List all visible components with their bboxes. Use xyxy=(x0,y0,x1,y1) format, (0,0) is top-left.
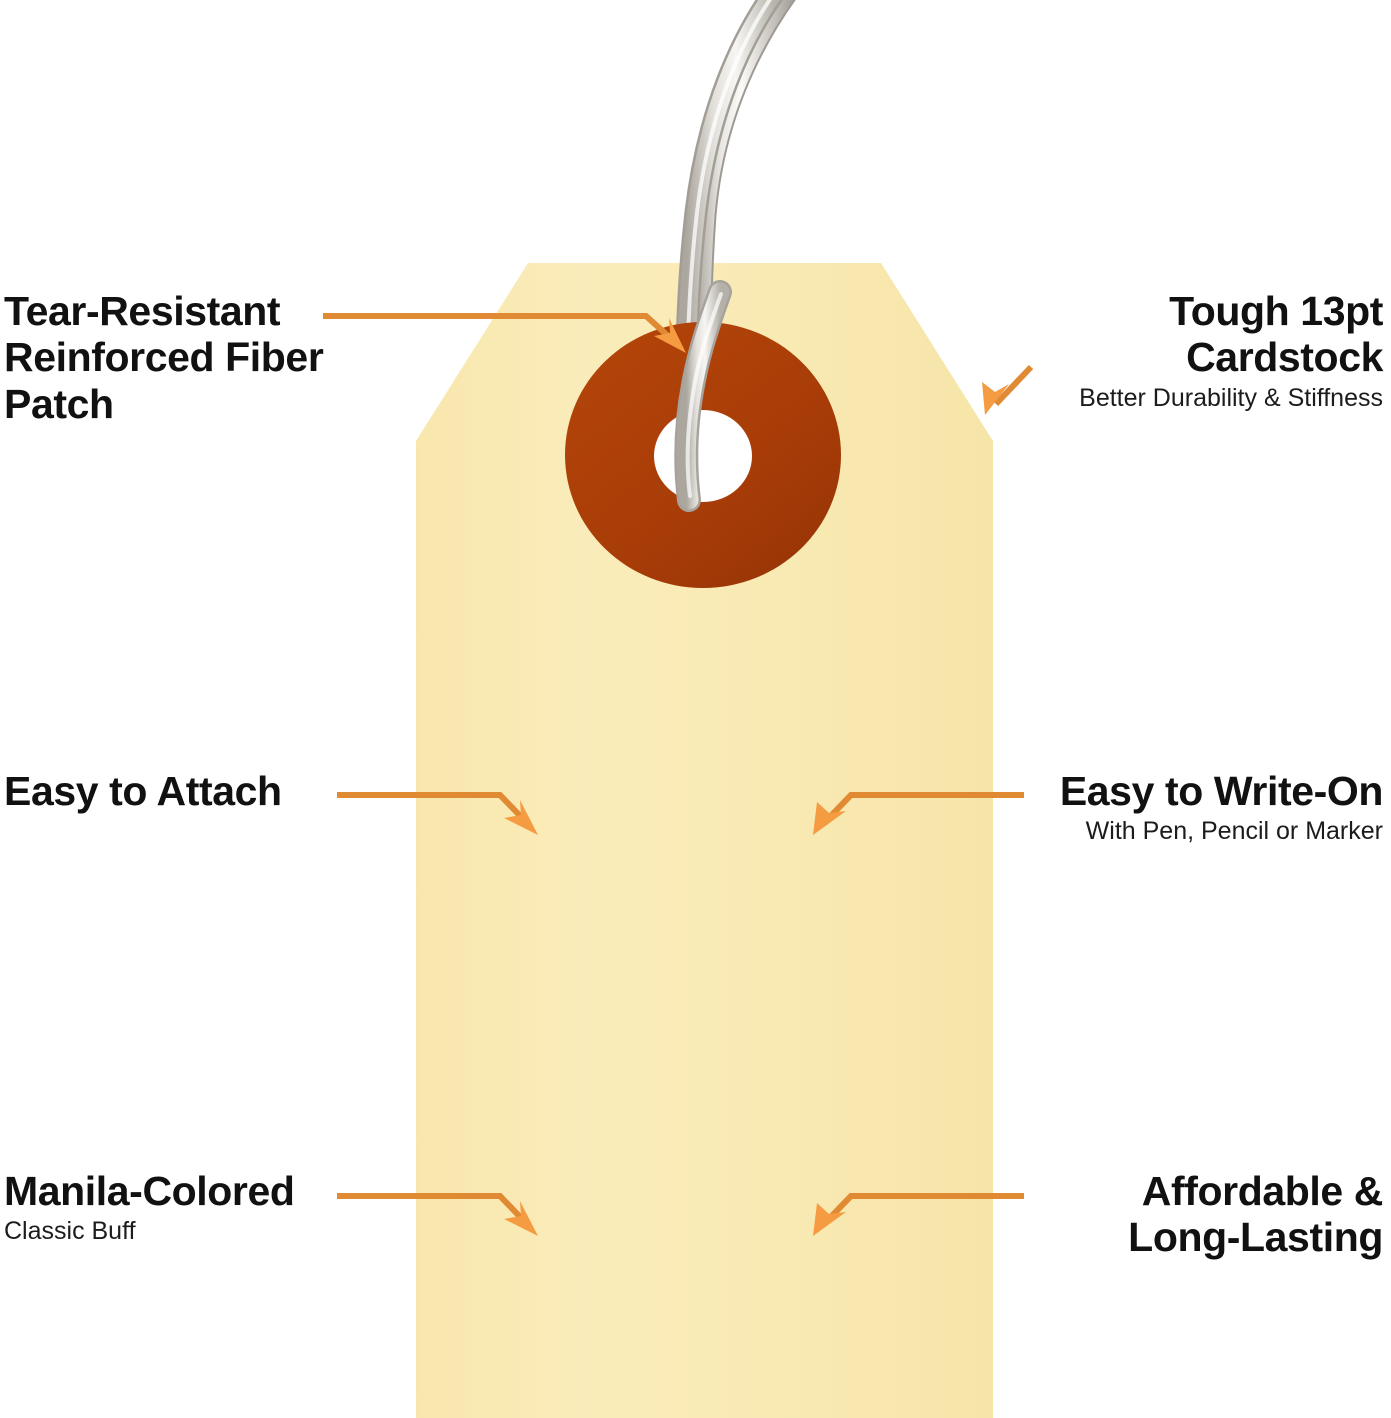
callout-affordable-long-lasting-heading: Affordable & Long-Lasting xyxy=(953,1168,1383,1261)
callout-manila-colored-sub: Classic Buff xyxy=(4,1216,424,1246)
callout-easy-to-write-on: Easy to Write-On With Pen, Pencil or Mar… xyxy=(953,768,1383,846)
tag-hole xyxy=(654,410,752,502)
callout-manila-colored: Manila-Colored Classic Buff xyxy=(4,1168,424,1246)
callout-fiber-patch-heading: Tear-Resistant Reinforced Fiber Patch xyxy=(4,288,424,427)
callout-easy-to-write-on-sub: With Pen, Pencil or Marker xyxy=(953,816,1383,846)
callout-easy-to-attach: Easy to Attach xyxy=(4,768,424,814)
callout-cardstock-sub: Better Durability & Stiffness xyxy=(953,383,1383,413)
callout-easy-to-write-on-heading: Easy to Write-On xyxy=(953,768,1383,814)
callout-easy-to-attach-heading: Easy to Attach xyxy=(4,768,424,814)
callout-affordable-long-lasting: Affordable & Long-Lasting xyxy=(953,1168,1383,1261)
callout-cardstock: Tough 13pt Cardstock Better Durability &… xyxy=(953,288,1383,413)
callout-manila-colored-heading: Manila-Colored xyxy=(4,1168,424,1214)
callout-cardstock-heading: Tough 13pt Cardstock xyxy=(953,288,1383,381)
infographic-canvas: Tear-Resistant Reinforced Fiber Patch To… xyxy=(0,0,1391,1418)
callout-fiber-patch: Tear-Resistant Reinforced Fiber Patch xyxy=(4,288,424,427)
